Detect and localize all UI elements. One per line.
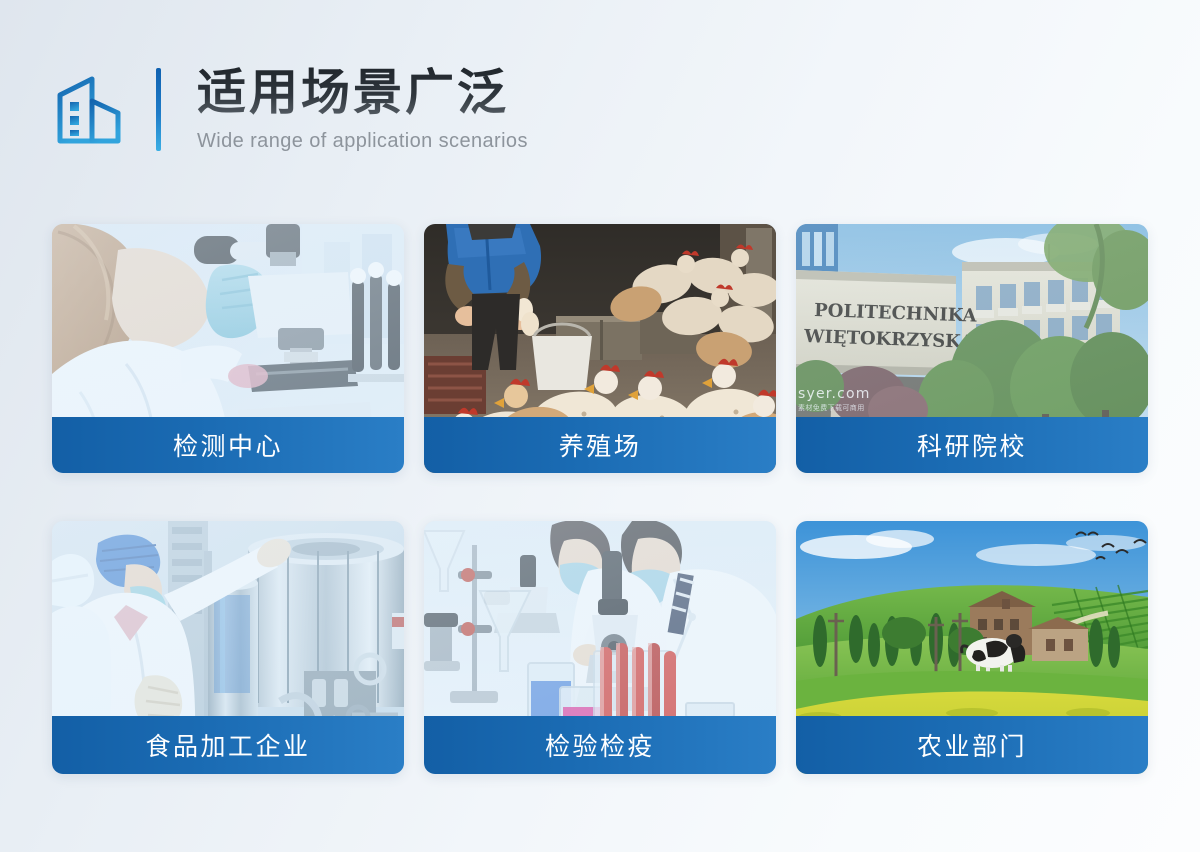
building-icon	[52, 71, 130, 149]
scenario-card-inspection[interactable]: 检验检疫	[424, 521, 776, 774]
scenario-card-agriculture[interactable]: 农业部门	[796, 521, 1148, 774]
scenario-card-breeding-farm[interactable]: 养殖场	[424, 224, 776, 473]
card-label-breeding-farm: 养殖场	[424, 417, 776, 473]
page-header: 适用场景广泛 Wide range of application scenari…	[52, 52, 528, 167]
page-root: 适用场景广泛 Wide range of application scenari…	[0, 0, 1200, 852]
card-label-food-processing: 食品加工企业	[52, 716, 404, 774]
scenario-card-research-academy[interactable]: POLITECHNIKA WIĘTOKRZYSKA	[796, 224, 1148, 473]
page-title: 适用场景广泛	[197, 66, 528, 119]
card-label-inspection: 检验检疫	[424, 716, 776, 774]
scenario-card-food-processing[interactable]: 食品加工企业	[52, 521, 404, 774]
header-divider	[156, 68, 161, 151]
header-titles: 适用场景广泛 Wide range of application scenari…	[197, 66, 528, 153]
scenario-card-grid: 检测中心	[52, 224, 1148, 774]
page-subtitle: Wide range of application scenarios	[197, 130, 528, 153]
card-label-agriculture: 农业部门	[796, 716, 1148, 774]
card-label-research-academy: 科研院校	[796, 417, 1148, 473]
scenario-card-testing-center[interactable]: 检测中心	[52, 224, 404, 473]
card-label-testing-center: 检测中心	[52, 417, 404, 473]
